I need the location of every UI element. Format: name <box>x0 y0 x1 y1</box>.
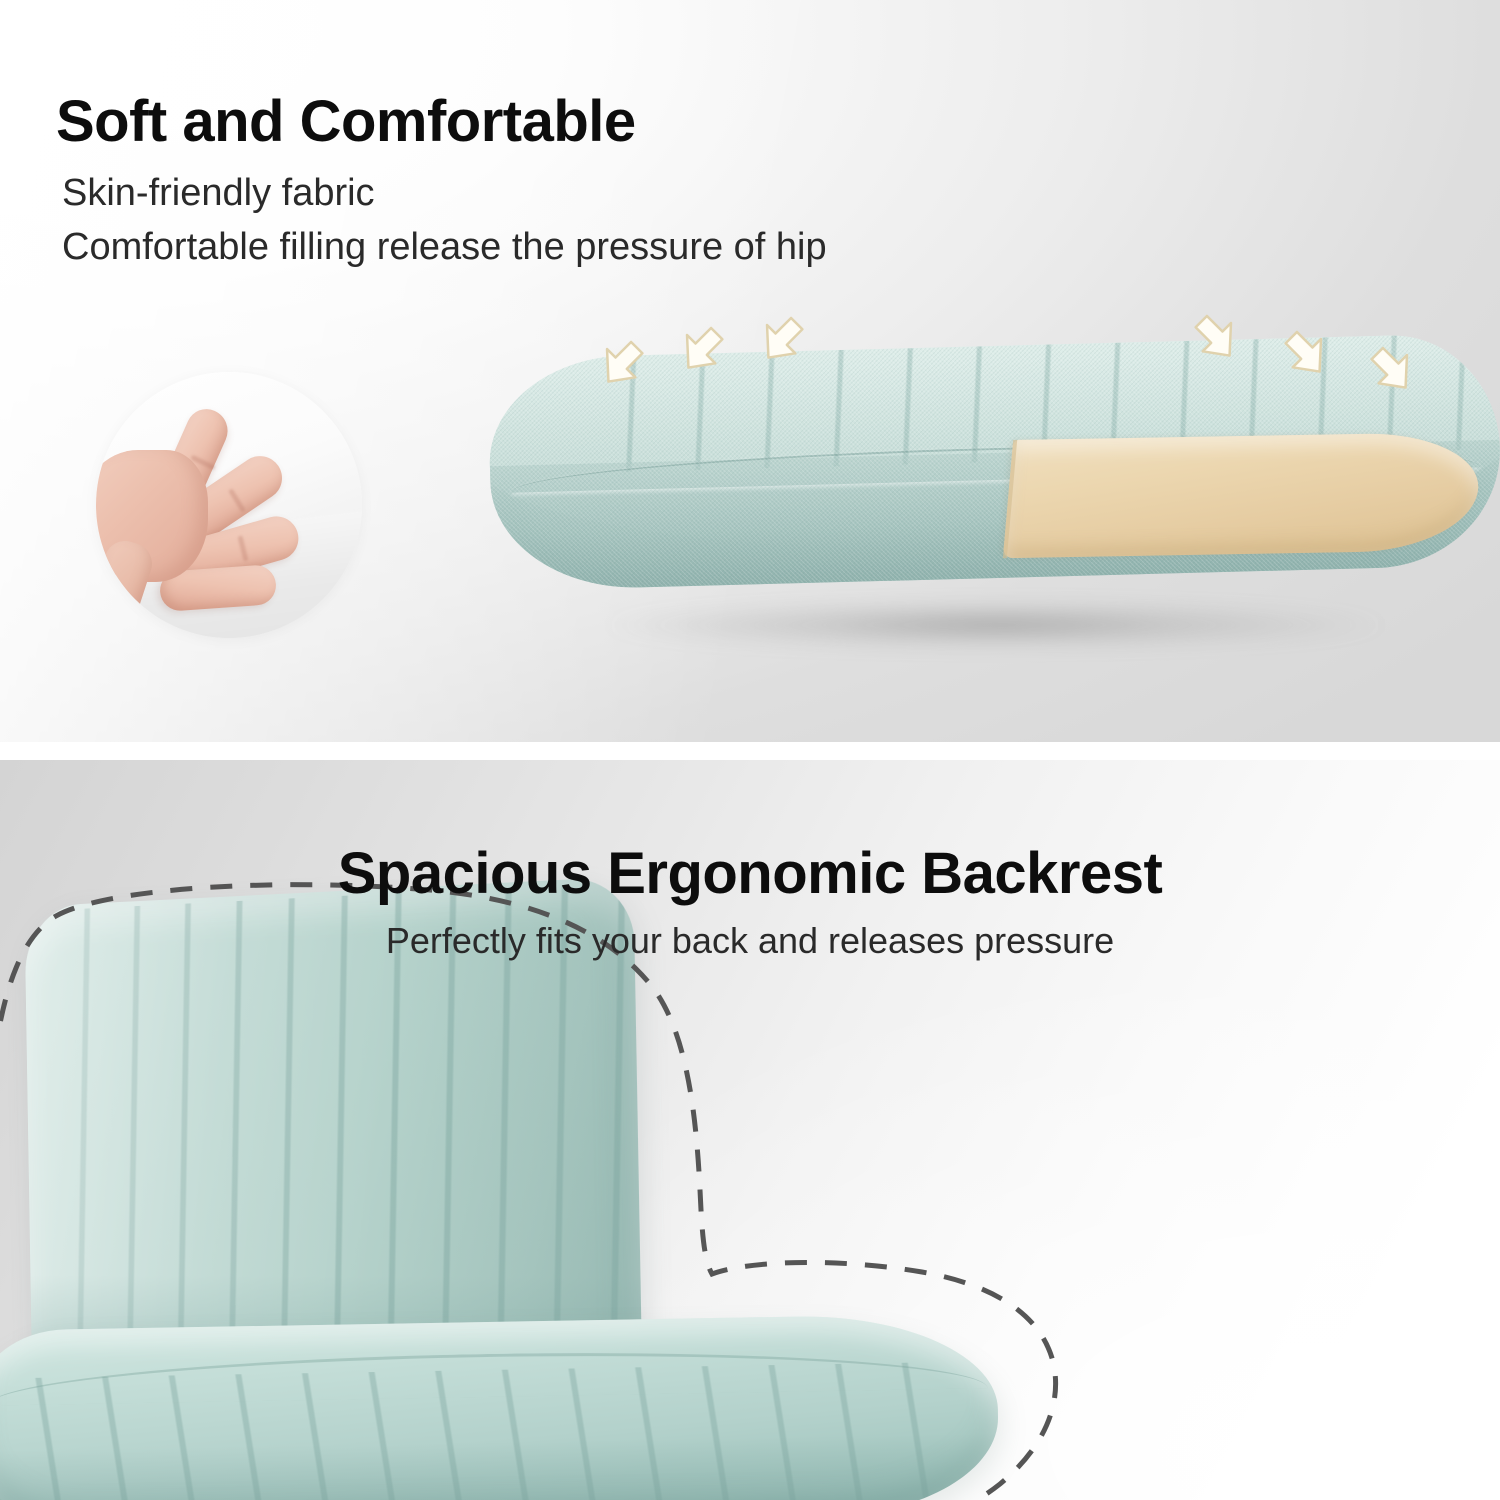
chair-graphic <box>0 870 1040 1500</box>
panel-bottom-headline: Spacious Ergonomic Backrest <box>338 840 1163 907</box>
pressure-arrow-right-3 <box>1364 346 1416 402</box>
panel-top-headline: Soft and Comfortable <box>56 88 636 155</box>
panel-bottom-subline: Perfectly fits your back and releases pr… <box>386 920 1114 962</box>
panel-top-subline-2: Comfortable filling release the pressure… <box>62 226 827 269</box>
panel-top-subline-1: Skin-friendly fabric <box>62 172 375 215</box>
seat-cushion-graphic <box>470 320 1500 680</box>
infographic-page: Soft and Comfortable Skin-friendly fabri… <box>0 0 1500 1500</box>
cushion-drop-shadow <box>600 602 1390 648</box>
hand-graphic <box>96 390 340 626</box>
pressure-arrow-left-2 <box>678 326 730 382</box>
pressure-arrow-left-1 <box>598 340 650 396</box>
pressure-arrow-right-2 <box>1278 330 1330 386</box>
panel-soft-comfortable: Soft and Comfortable Skin-friendly fabri… <box>0 0 1500 742</box>
foam-filling-cutaway <box>1003 432 1483 558</box>
hand-pressing-foam-inset <box>96 372 362 638</box>
pressure-arrow-right-1 <box>1188 314 1240 370</box>
panel-divider <box>0 742 1500 760</box>
chair-seat-cushion <box>0 1313 1000 1500</box>
pressure-arrow-left-3 <box>758 316 810 372</box>
